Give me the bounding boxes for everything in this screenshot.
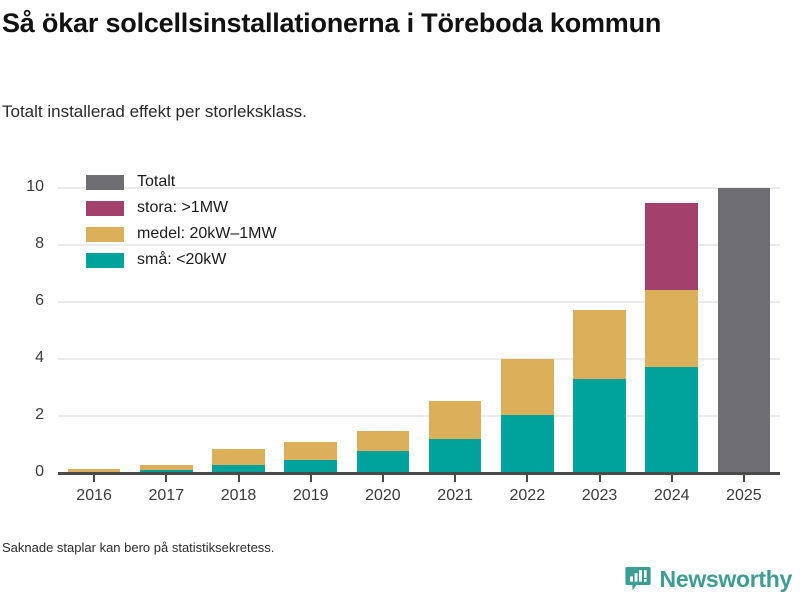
x-axis-tick (454, 475, 456, 482)
x-axis-tick-label: 2019 (293, 488, 329, 504)
x-axis-tick-label: 2017 (149, 488, 185, 504)
legend-item[interactable]: små: <20kW (86, 247, 277, 273)
x-axis-tick-label: 2025 (726, 488, 762, 504)
x-axis-tick-label: 2018 (221, 488, 257, 504)
x-axis-tick (93, 475, 95, 482)
x-axis-tick (238, 475, 240, 482)
x-axis-tick (599, 475, 601, 482)
x-axis-tick-label: 2021 (437, 488, 473, 504)
legend-item[interactable]: Totalt (86, 169, 277, 195)
plot-area: 0246810 20162017201820192020202120222023… (0, 150, 800, 495)
legend-item[interactable]: medel: 20kW–1MW (86, 221, 277, 247)
x-axis-tick (743, 475, 745, 482)
x-axis-tick (310, 475, 312, 482)
footnote: Saknade staplar kan bero på statistiksek… (2, 539, 274, 557)
x-axis-tick (526, 475, 528, 482)
brand-name: Newsworthy (660, 568, 792, 591)
chart-legend: Totaltstora: >1MWmedel: 20kW–1MWsmå: <20… (86, 169, 277, 273)
legend-item[interactable]: stora: >1MW (86, 195, 277, 221)
legend-swatch (86, 175, 124, 190)
x-axis-tick-label: 2016 (76, 488, 112, 504)
legend-swatch (86, 227, 124, 242)
legend-item-label: Totalt (137, 174, 175, 190)
brand-logo: Newsworthy (625, 566, 792, 592)
page-title: Så ökar solcellsinstallationerna i Töreb… (2, 6, 692, 41)
x-axis-tick-label: 2020 (365, 488, 401, 504)
x-axis-tick (165, 475, 167, 482)
legend-item-label: medel: 20kW–1MW (137, 226, 277, 242)
legend-item-label: små: <20kW (137, 252, 226, 268)
x-axis-tick-label: 2024 (654, 488, 690, 504)
chart-page: Så ökar solcellsinstallationerna i Töreb… (0, 0, 800, 600)
x-axis-tick (671, 475, 673, 482)
chart-subtitle: Totalt installerad effekt per storlekskl… (2, 100, 702, 124)
x-axis-tick-label: 2023 (582, 488, 618, 504)
x-axis-tick (382, 475, 384, 482)
legend-item-label: stora: >1MW (137, 200, 228, 216)
x-axis-line (58, 472, 780, 475)
legend-swatch (86, 201, 124, 216)
x-axis-tick-label: 2022 (510, 488, 546, 504)
legend-swatch (86, 253, 124, 268)
bar-chart-bubble-icon (625, 566, 651, 592)
